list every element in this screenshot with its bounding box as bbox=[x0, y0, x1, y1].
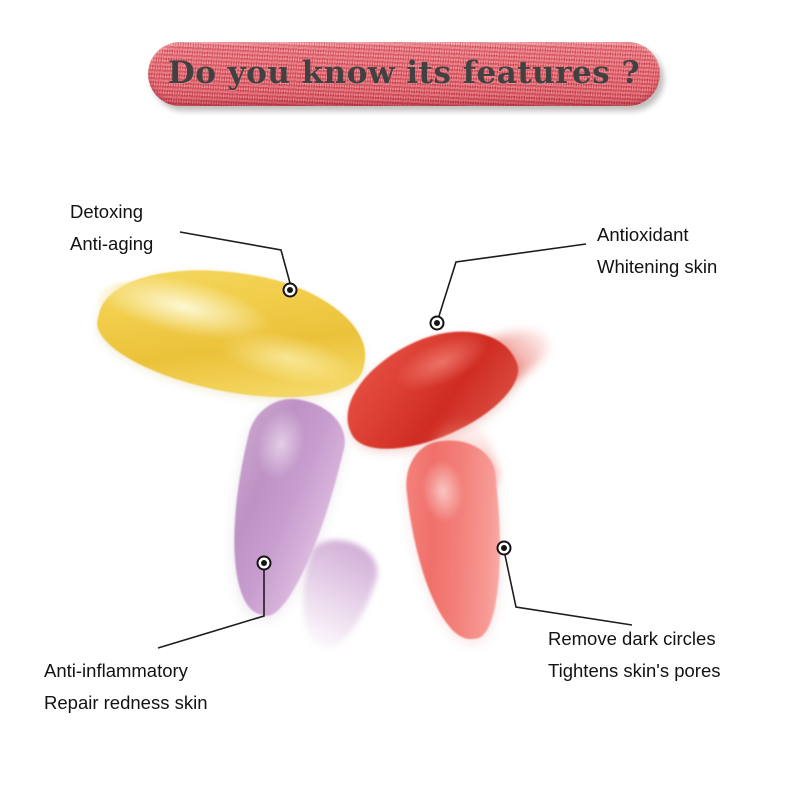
yellow-smear bbox=[88, 245, 377, 419]
callout-top-right: Antioxidant Whitening skin bbox=[597, 219, 717, 283]
callout-bottom-right-line1: Remove dark circles bbox=[548, 623, 721, 655]
callout-bottom-left-line2: Repair redness skin bbox=[44, 687, 208, 719]
callout-bottom-right: Remove dark circles Tightens skin's pore… bbox=[548, 623, 721, 687]
callout-bottom-left-line1: Anti-inflammatory bbox=[44, 655, 208, 687]
callout-top-right-line1: Antioxidant bbox=[597, 219, 717, 251]
callout-bottom-left: Anti-inflammatory Repair redness skin bbox=[44, 655, 208, 719]
leader-line-bottom-right bbox=[505, 555, 632, 625]
leader-line-top-right bbox=[439, 244, 586, 316]
page-title: Do you know its features ? bbox=[168, 55, 640, 91]
callout-top-left-line1: Detoxing bbox=[70, 196, 153, 228]
callout-top-left-line2: Anti-aging bbox=[70, 228, 153, 260]
callout-top-right-line2: Whitening skin bbox=[597, 251, 717, 283]
title-banner: Do you know its features ? bbox=[148, 42, 660, 106]
infographic-canvas: Do you know its features ? bbox=[0, 0, 800, 800]
callout-bottom-right-line2: Tightens skin's pores bbox=[548, 655, 721, 687]
banner-pill: Do you know its features ? bbox=[148, 42, 660, 106]
callout-top-left: Detoxing Anti-aging bbox=[70, 196, 153, 260]
leader-dot-top-right bbox=[431, 317, 444, 330]
